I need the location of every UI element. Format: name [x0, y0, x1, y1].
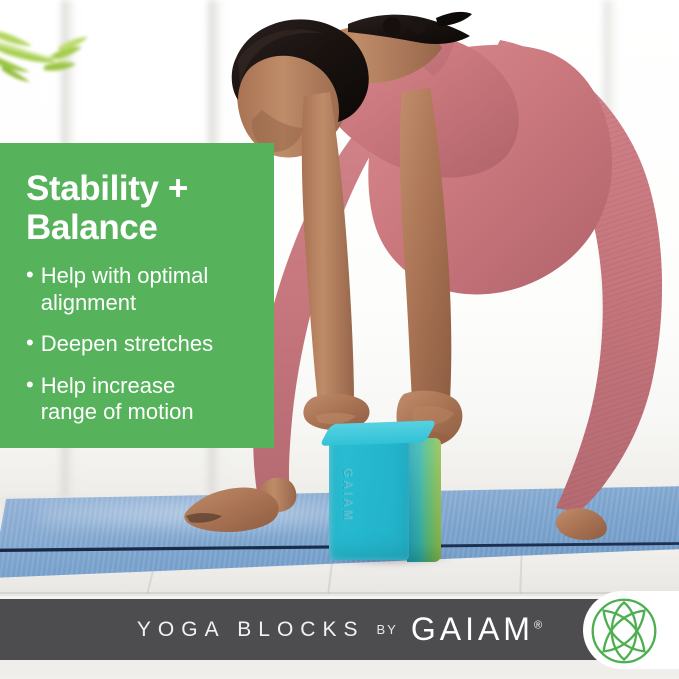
model-left-arm — [302, 92, 354, 404]
yoga-block-side-shading — [407, 438, 441, 562]
panel-bullet-list: • Help with optimal alignment • Deepen s… — [26, 263, 256, 425]
product-label: YOGA BLOCKS — [137, 618, 365, 642]
yoga-block-brand-emboss: GAIAM — [341, 468, 355, 523]
feature-callout-panel: Stability + Balance • Help with optimal … — [0, 143, 274, 448]
brand-wordmark: GAIAM® — [411, 611, 542, 648]
yoga-block: GAIAM — [329, 424, 445, 560]
yoga-block-side-face — [407, 438, 441, 562]
bullet-text: Deepen stretches — [41, 331, 213, 357]
bullet-text: Help with optimal alignment — [41, 263, 209, 316]
by-label: BY — [376, 622, 397, 637]
product-marketing-image: GAIAM Stability + Balance • Help with op… — [0, 0, 679, 679]
bullet-marker-icon: • — [26, 263, 34, 287]
panel-headline: Stability + Balance — [26, 169, 256, 247]
brand-banner: YOGA BLOCKS BY GAIAM® — [0, 599, 679, 660]
bullet-marker-icon: • — [26, 373, 34, 397]
list-item: • Deepen stretches — [26, 331, 256, 357]
brand-banner-content: YOGA BLOCKS BY GAIAM® — [137, 611, 542, 648]
model-left-foot — [184, 487, 279, 532]
registered-trademark-icon: ® — [534, 619, 542, 631]
yoga-block-front-face: GAIAM — [329, 432, 409, 560]
model-right-foot — [556, 508, 607, 540]
list-item: • Help increase range of motion — [26, 373, 256, 426]
brand-name: GAIAM — [411, 611, 534, 647]
yoga-block-top-face — [319, 420, 437, 446]
bullet-marker-icon: • — [26, 331, 34, 355]
gaiam-flower-of-life-icon — [590, 597, 658, 665]
bullet-text: Help increase range of motion — [41, 373, 194, 426]
list-item: • Help with optimal alignment — [26, 263, 256, 316]
